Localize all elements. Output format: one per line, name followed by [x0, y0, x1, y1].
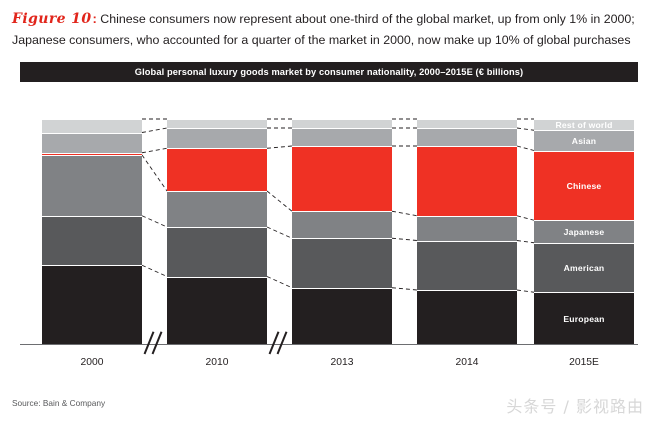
x-axis-line: [20, 344, 638, 345]
source-note: Source: Bain & Company: [12, 398, 105, 408]
bar-segment-asian: [292, 128, 392, 146]
connector-line: [517, 216, 534, 221]
bar-segment-rest-of-world: [42, 119, 142, 133]
stacked-bar-2000: [42, 119, 142, 344]
connector-line: [142, 265, 167, 276]
bar-segment-american: [292, 238, 392, 288]
bar-segment-chinese: [167, 148, 267, 191]
connector-line: [517, 290, 534, 292]
stacked-bar-2015e: Rest of worldAsianChineseJapaneseAmerica…: [534, 119, 634, 344]
bar-segment-japanese: [167, 191, 267, 227]
legend-label-european: European: [563, 314, 604, 324]
bar-segment-japanese: [42, 155, 142, 216]
connector-line: [142, 128, 167, 133]
bar-segment-rest-of-world: [167, 119, 267, 128]
bar-segment-european: [417, 290, 517, 344]
bar-segment-asian: [42, 133, 142, 153]
bar-segment-european: [167, 277, 267, 345]
bar-segment-european: European: [534, 292, 634, 344]
stacked-bar-plot: Rest of worldAsianChineseJapaneseAmerica…: [20, 82, 638, 382]
bar-segment-asian: [417, 128, 517, 146]
bar-segment-rest-of-world: [417, 119, 517, 128]
figure-caption-text: Chinese consumers now represent about on…: [12, 12, 635, 47]
figure-number-label: Figure 10: [12, 11, 91, 27]
bar-segment-chinese: Chinese: [534, 151, 634, 221]
x-tick-2014: 2014: [417, 357, 517, 368]
bar-segment-american: [417, 241, 517, 291]
connector-line: [267, 227, 292, 238]
legend-label-american: American: [564, 263, 605, 273]
bar-segment-rest-of-world: [292, 119, 392, 128]
connector-line: [267, 146, 292, 148]
figure-caption: Figure 10: Chinese consumers now represe…: [12, 8, 650, 51]
bar-segment-rest-of-world: Rest of world: [534, 119, 634, 130]
bar-segment-japanese: [417, 216, 517, 241]
axis-break-mark: [267, 331, 293, 355]
x-tick-2000: 2000: [42, 357, 142, 368]
bar-segment-chinese: [417, 146, 517, 216]
x-tick-2013: 2013: [292, 357, 392, 368]
bar-segment-japanese: [292, 211, 392, 238]
chart-title: Global personal luxury goods market by c…: [135, 67, 523, 77]
x-tick-2010: 2010: [167, 357, 267, 368]
watermark: 头条号 / 影视路由: [506, 393, 644, 417]
legend-label-rest-of-world: Rest of world: [555, 120, 612, 130]
connector-line: [267, 277, 292, 288]
bar-segment-american: [167, 227, 267, 277]
bar-segment-chinese: [292, 146, 392, 211]
connector-line: [517, 146, 534, 151]
stacked-bar-2014: [417, 119, 517, 344]
bar-segment-european: [292, 288, 392, 344]
connector-line: [142, 148, 167, 153]
x-tick-2015e: 2015E: [534, 357, 634, 368]
bar-segment-american: American: [534, 243, 634, 293]
connector-line: [392, 211, 417, 216]
connector-line: [392, 238, 417, 240]
legend-label-asian: Asian: [572, 136, 596, 146]
connector-line: [142, 216, 167, 227]
bar-segment-american: [42, 216, 142, 266]
bar-segment-japanese: Japanese: [534, 220, 634, 243]
chart-panel: Global personal luxury goods market by c…: [20, 62, 638, 382]
connector-line: [517, 128, 534, 130]
chart-title-bar: Global personal luxury goods market by c…: [20, 62, 638, 82]
stacked-bar-2010: [167, 119, 267, 344]
bar-segment-european: [42, 265, 142, 344]
legend-label-japanese: Japanese: [564, 227, 605, 237]
stacked-bar-2013: [292, 119, 392, 344]
connector-line: [392, 288, 417, 290]
axis-break-mark: [142, 331, 168, 355]
bar-segment-asian: Asian: [534, 130, 634, 150]
connector-line: [267, 191, 292, 211]
connector-line: [142, 155, 167, 191]
connector-line: [517, 241, 534, 243]
bar-segment-asian: [167, 128, 267, 148]
legend-label-chinese: Chinese: [567, 181, 602, 191]
